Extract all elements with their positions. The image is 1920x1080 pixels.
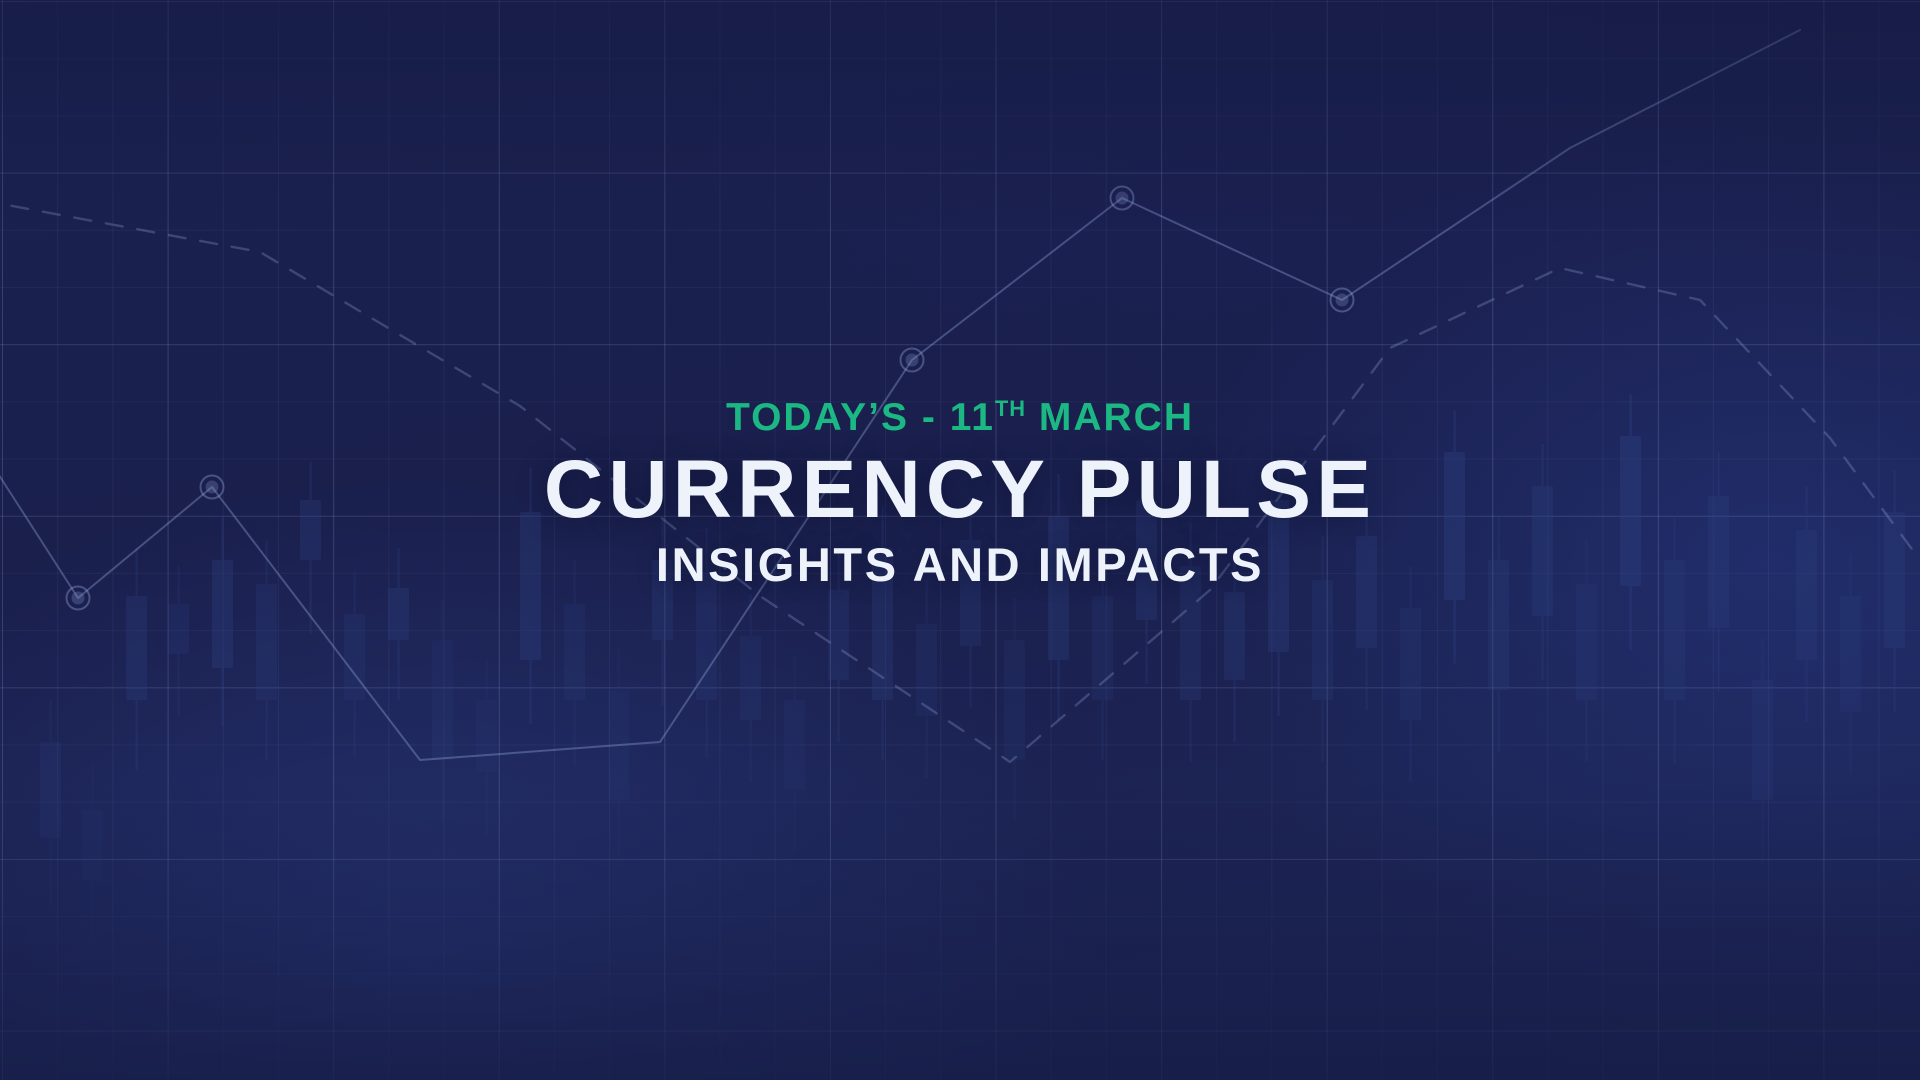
candlestick-wick xyxy=(926,580,928,778)
banner-subheadline: INSIGHTS AND IMPACTS xyxy=(0,540,1920,590)
candlestick-body xyxy=(40,742,61,838)
data-point-dot xyxy=(72,592,85,605)
candlestick xyxy=(1004,598,1025,820)
candlestick-wick xyxy=(486,660,488,836)
candlestick xyxy=(784,656,805,852)
candlestick-body xyxy=(784,700,805,790)
candlestick-body xyxy=(696,572,717,700)
candlestick-wick xyxy=(354,570,356,758)
eyebrow-ordinal-suffix: TH xyxy=(995,396,1026,421)
candlestick-wick xyxy=(1762,638,1764,862)
bottom-fade-overlay xyxy=(0,780,1920,1080)
candlestick-wick xyxy=(442,600,444,822)
data-point-ring xyxy=(1331,289,1354,312)
candlestick-body xyxy=(344,614,365,700)
candlestick xyxy=(608,648,629,856)
candlestick-wick xyxy=(618,648,620,856)
data-point-ring xyxy=(1111,187,1134,210)
data-point-ring xyxy=(901,349,924,372)
candlestick xyxy=(344,570,365,758)
candlestick xyxy=(564,560,585,766)
candlestick-body xyxy=(608,690,629,800)
candlestick xyxy=(740,594,761,782)
candlestick-body xyxy=(1224,592,1245,680)
data-point-dot xyxy=(1336,294,1349,307)
candlestick-body xyxy=(256,584,277,700)
trend-line-solid xyxy=(0,30,1800,760)
candlestick-wick xyxy=(92,762,94,948)
candlestick-body xyxy=(1752,680,1773,800)
candlestick-body xyxy=(432,640,453,760)
candlestick xyxy=(40,700,61,905)
candlestick xyxy=(476,660,497,836)
data-point-dot xyxy=(1116,192,1129,205)
candlestick-body xyxy=(168,604,189,654)
candlestick xyxy=(432,600,453,822)
candlestick-body xyxy=(126,596,147,700)
candlestick-body xyxy=(82,810,103,880)
candlestick-wick xyxy=(794,656,796,852)
candlestick xyxy=(916,580,937,778)
candlestick-body xyxy=(388,588,409,640)
candlestick xyxy=(1400,566,1421,782)
candlestick-wick xyxy=(750,594,752,782)
candlestick-body xyxy=(476,700,497,772)
candlestick-body xyxy=(1092,596,1113,700)
banner-headline: CURRENCY PULSE xyxy=(0,447,1920,532)
candlestick-body xyxy=(1840,596,1861,712)
candlestick-body xyxy=(1400,608,1421,720)
candlestick-body xyxy=(1576,584,1597,700)
eyebrow-month: MARCH xyxy=(1026,396,1194,439)
currency-pulse-banner: TODAY’S - 11TH MARCH CURRENCY PULSE INSI… xyxy=(0,0,1920,1080)
candlestick-body xyxy=(564,604,585,700)
banner-eyebrow: TODAY’S - 11TH MARCH xyxy=(0,398,1920,437)
candlestick-wick xyxy=(574,560,576,766)
candlestick-body xyxy=(1312,580,1333,700)
candlestick-body xyxy=(916,624,937,716)
eyebrow-prefix: TODAY’S - 11 xyxy=(726,396,995,439)
candlestick-body xyxy=(828,590,849,680)
candlestick-body xyxy=(740,636,761,720)
banner-text-block: TODAY’S - 11TH MARCH CURRENCY PULSE INSI… xyxy=(0,398,1920,590)
candlestick xyxy=(82,762,103,948)
top-fade-overlay xyxy=(0,0,1920,230)
candlestick-wick xyxy=(1410,566,1412,782)
candlestick-wick xyxy=(50,700,52,905)
candlestick-wick xyxy=(1014,598,1016,820)
candlestick xyxy=(1752,638,1773,862)
data-point-dot xyxy=(906,354,919,367)
candlestick-body xyxy=(1004,640,1025,760)
